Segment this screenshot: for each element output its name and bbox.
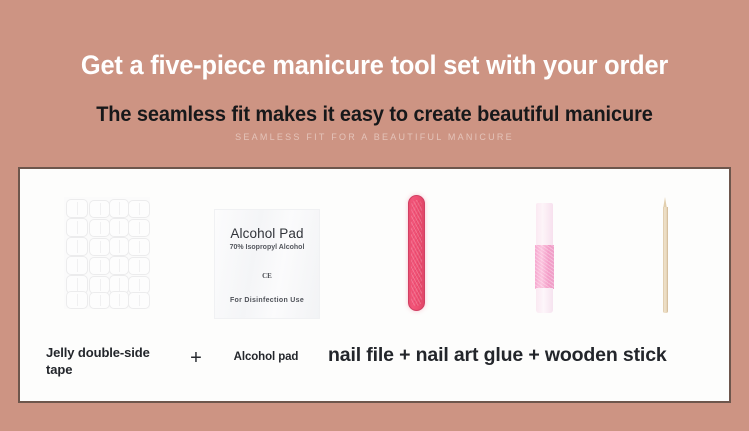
glue-base <box>536 288 553 313</box>
promo-microcopy: SEAMLESS FIT FOR A BEAUTIFUL MANICURE <box>0 131 749 143</box>
sachet-usage: For Disinfection Use <box>215 297 319 304</box>
product-image-alcohol-pad: Alcohol Pad 70% Isopropyl Alcohol CE For… <box>192 169 342 334</box>
sachet-title: Alcohol Pad <box>215 226 319 241</box>
glue-body <box>535 245 554 289</box>
product-set-card: Alcohol Pad 70% Isopropyl Alcohol CE For… <box>18 167 731 403</box>
sachet-subtitle: 70% Isopropyl Alcohol <box>215 244 319 251</box>
promo-subheadline: The seamless fit makes it easy to create… <box>19 101 731 128</box>
nail-file-grit-surface <box>411 200 422 306</box>
caption-alcohol-pad: Alcohol pad <box>206 351 326 363</box>
wooden-stick-shaft <box>663 207 668 313</box>
wooden-stick-icon <box>663 197 668 313</box>
product-image-nail-file <box>350 169 482 334</box>
product-image-nail-glue <box>478 169 610 334</box>
product-image-row: Alcohol Pad 70% Isopropyl Alcohol CE For… <box>20 169 729 334</box>
product-caption-row: Jelly double-side tape + Alcohol pad nai… <box>20 337 729 397</box>
product-image-jelly-tape <box>32 169 182 334</box>
glue-cap <box>536 203 553 247</box>
jelly-tape-sheet-icon <box>64 197 150 309</box>
promo-headline: Get a five-piece manicure tool set with … <box>22 48 726 82</box>
nail-file-icon <box>408 195 425 311</box>
ce-mark-icon: CE <box>215 272 319 280</box>
caption-remaining-tools: nail file + nail art glue + wooden stick <box>328 343 723 367</box>
nail-glue-bottle-icon <box>535 203 554 313</box>
caption-jelly-tape: Jelly double-side tape <box>46 344 166 378</box>
product-image-wooden-stick <box>604 169 726 334</box>
alcohol-pad-sachet-icon: Alcohol Pad 70% Isopropyl Alcohol CE For… <box>214 209 320 319</box>
